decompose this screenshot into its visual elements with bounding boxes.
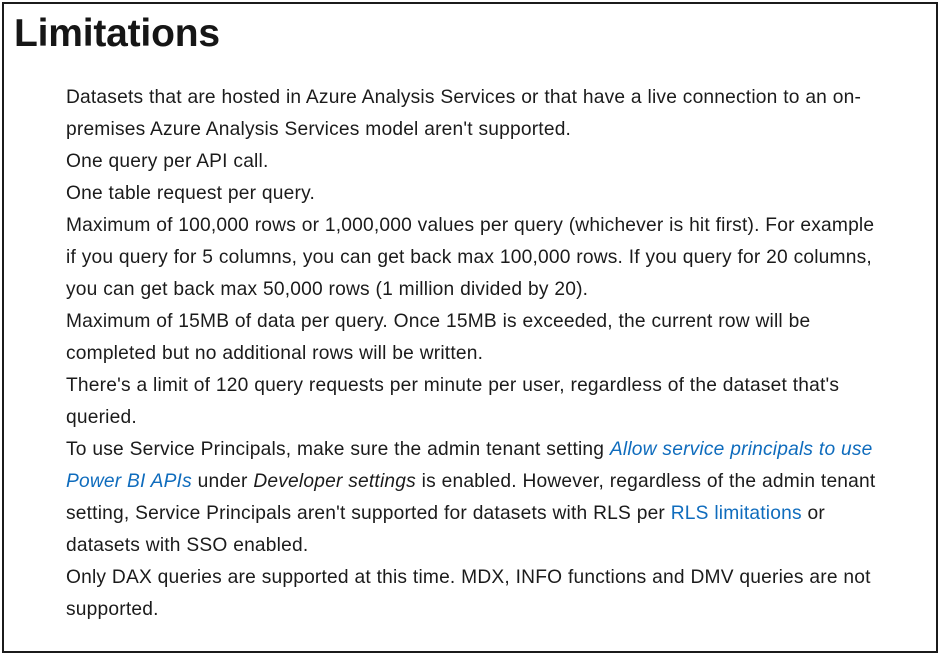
limitation-item-azure-analysis-services: Datasets that are hosted in Azure Analys… [66, 82, 878, 146]
document-content: Limitations Datasets that are hosted in … [0, 0, 941, 656]
page-title: Limitations [14, 8, 220, 60]
limitation-item-max-data-size: Maximum of 15MB of data per query. Once … [66, 306, 878, 370]
service-principals-text-1: To use Service Principals, make sure the… [66, 439, 610, 460]
limitation-item-max-rows-values: Maximum of 100,000 rows or 1,000,000 val… [66, 210, 878, 306]
limitation-item-dax-only: Only DAX queries are supported at this t… [66, 562, 878, 626]
rls-limitations-link[interactable]: RLS limitations [671, 503, 802, 524]
limitation-item-query-rate-limit: There's a limit of 120 query requests pe… [66, 370, 878, 434]
service-principals-text-2: under [192, 471, 253, 492]
limitation-item-one-query-per-api-call: One query per API call. [66, 146, 878, 178]
limitation-item-one-table-request-per-query: One table request per query. [66, 178, 878, 210]
screenshot-root: Limitations Datasets that are hosted in … [0, 0, 941, 656]
limitation-item-service-principals: To use Service Principals, make sure the… [66, 434, 878, 562]
limitations-list: Datasets that are hosted in Azure Analys… [66, 82, 878, 626]
developer-settings-emphasis: Developer settings [253, 471, 416, 492]
